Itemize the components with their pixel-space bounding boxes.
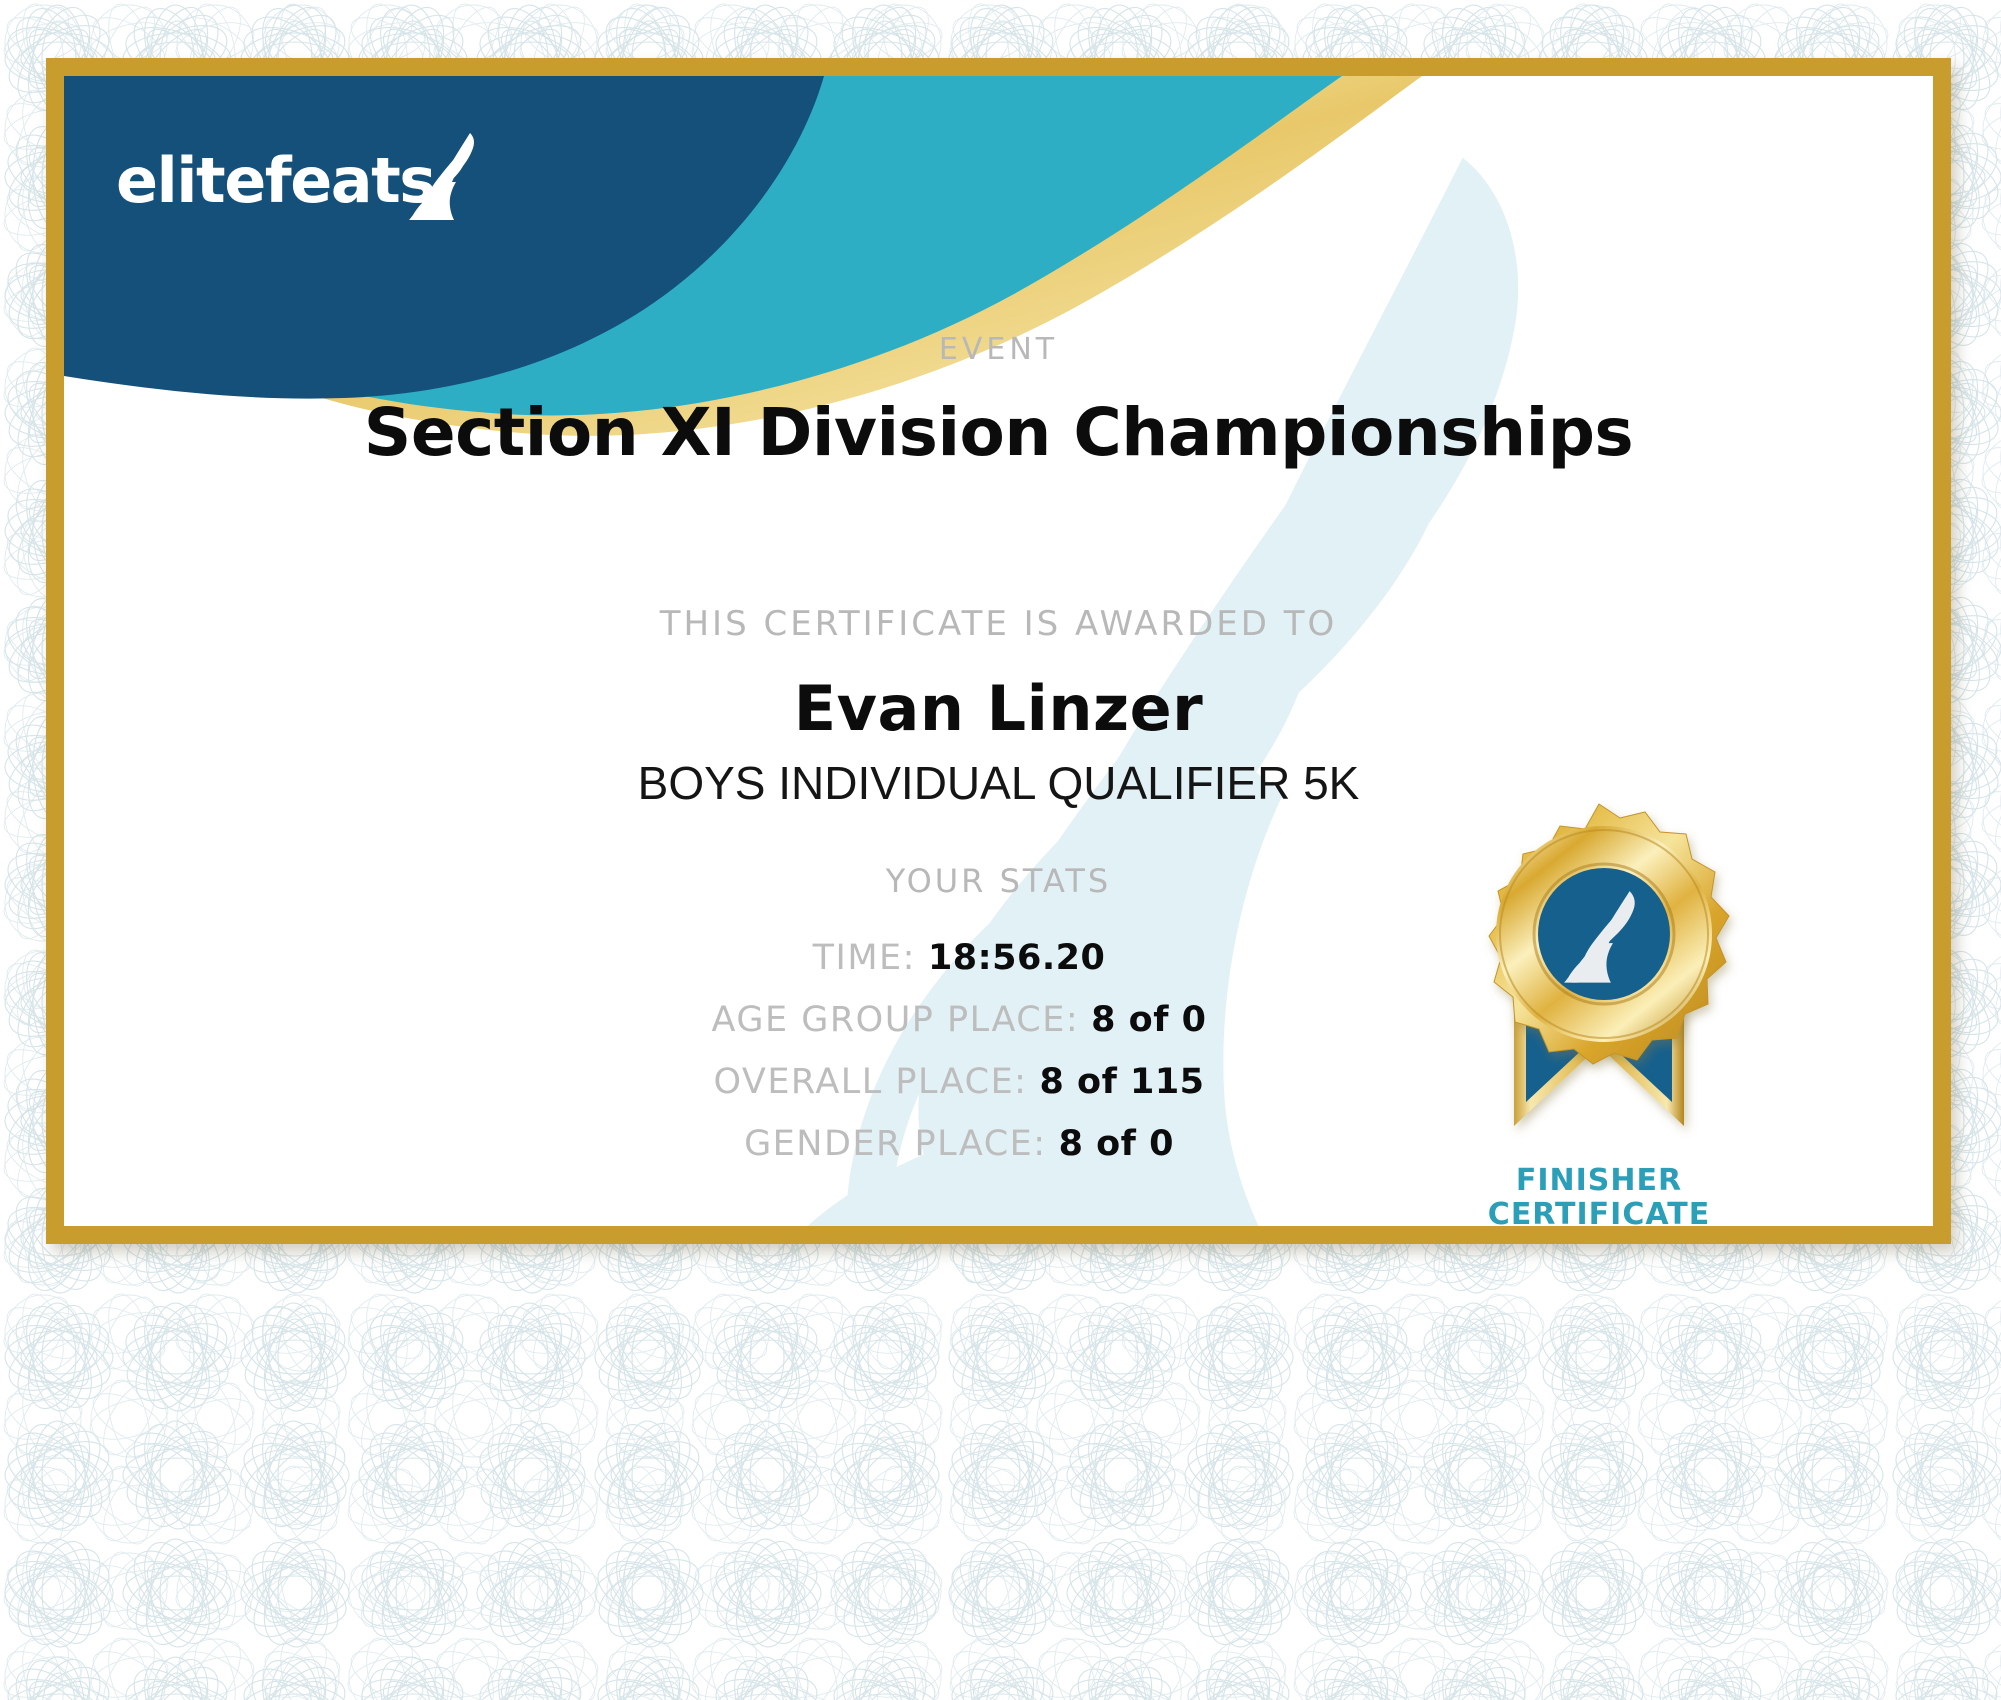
stat-key: TIME:	[813, 938, 916, 978]
stat-key: AGE GROUP PLACE:	[712, 1000, 1080, 1040]
certificate-card: elitefeats EVENT Section XI Division Cha…	[46, 58, 1951, 1244]
certificate-page: elitefeats EVENT Section XI Division Cha…	[0, 0, 2001, 1700]
stat-value: 18:56.20	[928, 938, 1105, 978]
certificate-inner: elitefeats EVENT Section XI Division Cha…	[64, 76, 1933, 1226]
brand-logo: elitefeats	[116, 136, 476, 231]
awarded-to-label: THIS CERTIFICATE IS AWARDED TO	[64, 604, 1933, 644]
brand-logo-text: elitefeats	[116, 144, 435, 217]
event-title: Section XI Division Championships	[64, 394, 1933, 471]
finisher-medal: 2025	[1444, 796, 1834, 1226]
rosette-icon: 2025	[1444, 796, 1754, 1166]
finisher-line-2: CERTIFICATE	[1488, 1197, 1710, 1226]
recipient-name: Evan Linzer	[64, 672, 1933, 745]
stat-key: OVERALL PLACE:	[713, 1062, 1027, 1102]
winged-foot-icon	[408, 130, 486, 220]
event-label: EVENT	[64, 332, 1933, 367]
header-ribbon-art	[64, 76, 1424, 436]
stat-value: 8 of 0	[1091, 1000, 1206, 1040]
finisher-line-1: FINISHER	[1516, 1163, 1682, 1198]
stat-value: 8 of 0	[1059, 1124, 1174, 1164]
stat-value: 8 of 115	[1039, 1062, 1204, 1102]
stat-key: GENDER PLACE:	[744, 1124, 1047, 1164]
finisher-certificate-label: FINISHER CERTIFICATE	[1444, 1164, 1754, 1226]
